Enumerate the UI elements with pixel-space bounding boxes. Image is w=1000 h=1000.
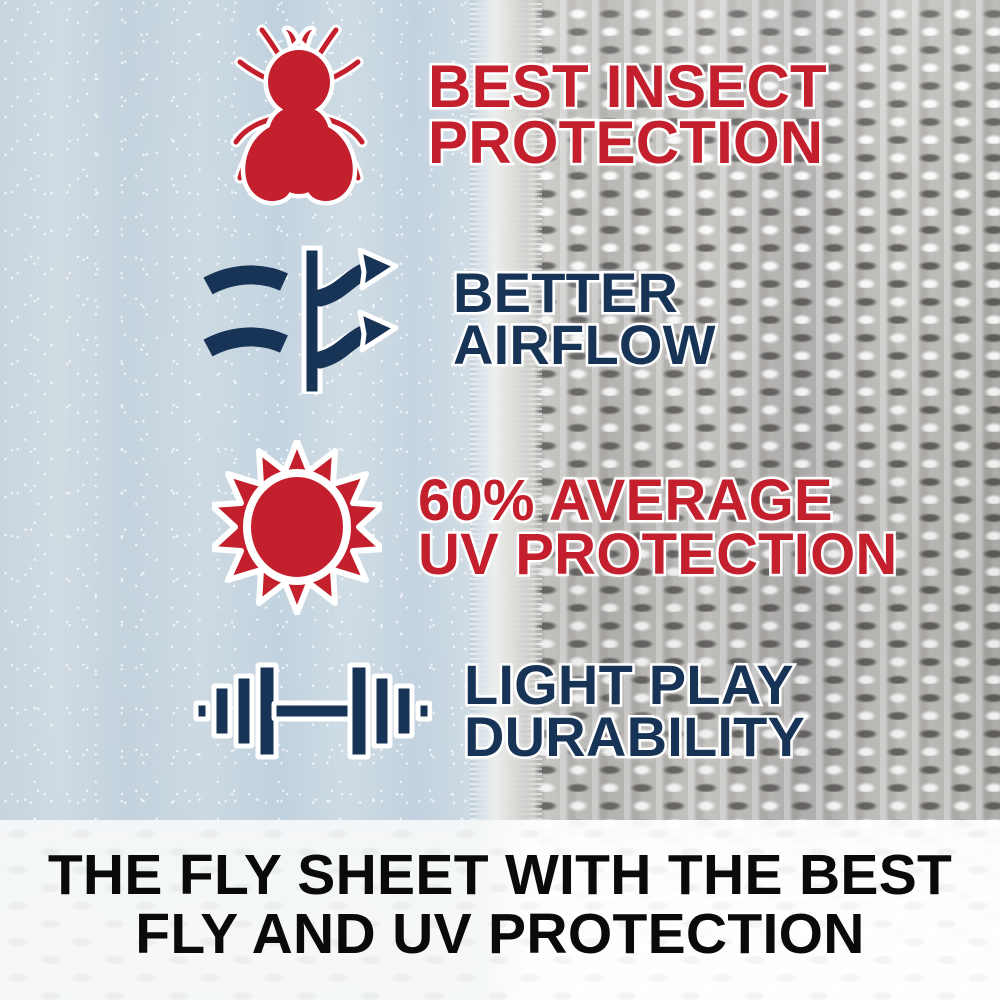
feature-label-insect: BEST INSECT PROTECTION [428, 59, 827, 171]
dumbbell-icon [192, 656, 432, 766]
product-feature-poster: BEST INSECT PROTECTION [0, 0, 1000, 1000]
feature-row-insect: BEST INSECT PROTECTION [214, 22, 827, 207]
feature-list: BEST INSECT PROTECTION [0, 0, 1000, 820]
fly-icon [214, 22, 384, 207]
feature-row-uv: 60% AVERAGE UV PROTECTION [212, 440, 898, 615]
feature-row-durability: LIGHT PLAY DURABILITY [192, 656, 805, 766]
airflow-icon [200, 244, 415, 394]
feature-label-uv: 60% AVERAGE UV PROTECTION [418, 474, 898, 582]
feature-row-airflow: BETTER AIRFLOW [200, 244, 716, 394]
feature-label-airflow: BETTER AIRFLOW [453, 267, 716, 371]
caption-band: THE FLY SHEET WITH THE BEST FLY AND UV P… [0, 820, 1000, 1000]
feature-label-durability: LIGHT PLAY DURABILITY [464, 659, 805, 763]
caption-headline: THE FLY SHEET WITH THE BEST FLY AND UV P… [0, 846, 1000, 963]
sun-icon [212, 440, 382, 615]
